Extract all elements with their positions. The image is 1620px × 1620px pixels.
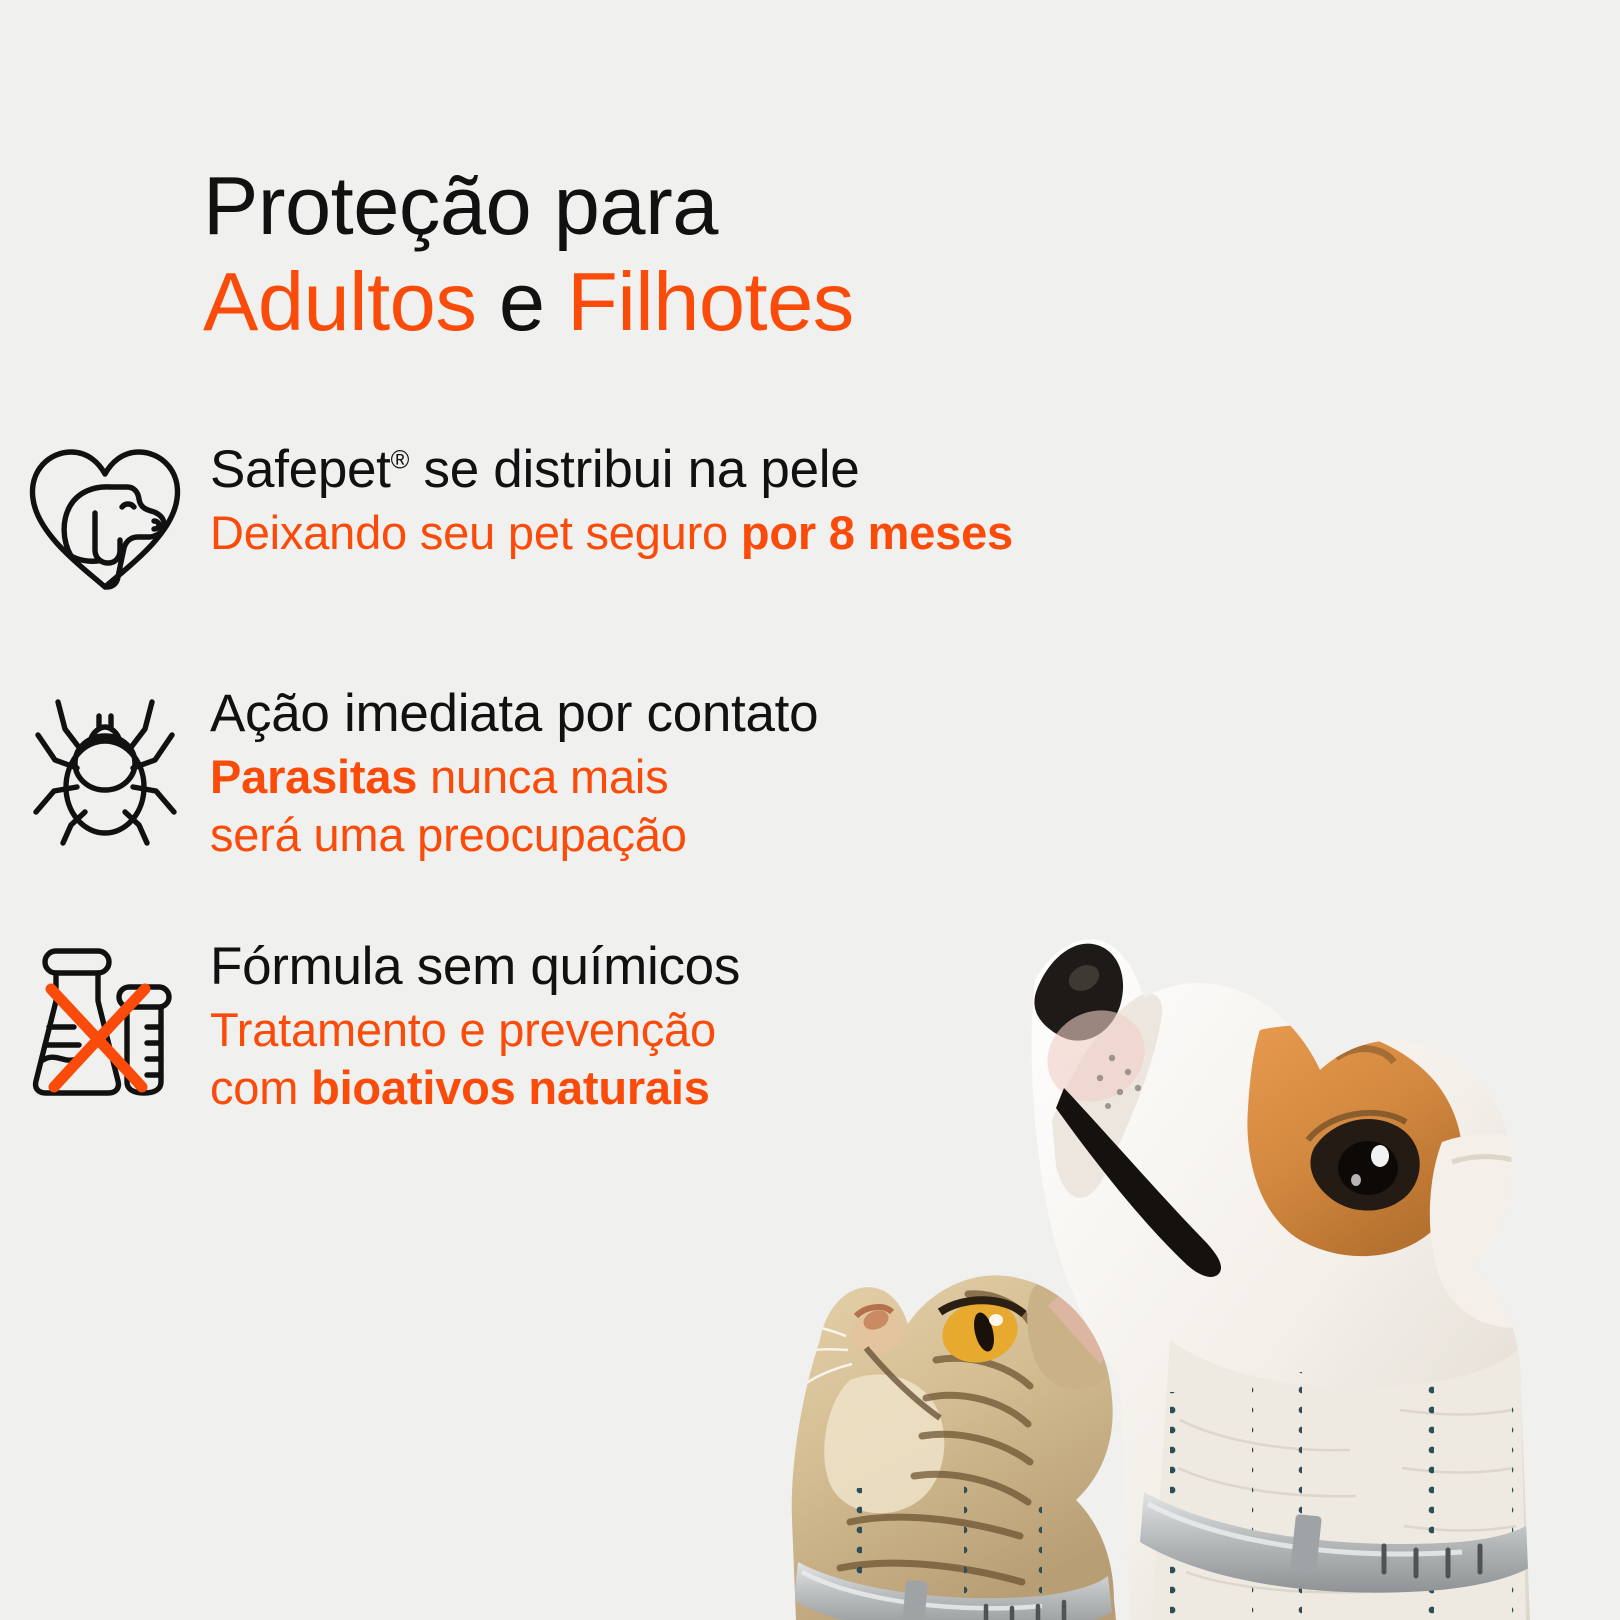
no-chemicals-flask-icon [0, 935, 210, 1099]
headline-accent-adultos: Adultos [203, 255, 476, 348]
subtitle-plain: com [210, 1061, 311, 1114]
cat-collar [794, 1562, 1112, 1620]
heart-dog-icon [0, 438, 210, 594]
feature-title: Fórmula sem químicos [210, 937, 1320, 997]
feature-text-block: Fórmula sem químicos Tratamento e preven… [210, 935, 1320, 1116]
feature-item-skin-distribution: Safepet® se distribui na pele Deixando s… [0, 438, 1320, 594]
feature-title-rest: se distribui na pele [409, 440, 859, 499]
headline-line-1: Proteção para [203, 158, 1303, 254]
feature-subtitle: Parasitas nunca mais será uma preocupaçã… [210, 748, 1320, 863]
feature-list: Safepet® se distribui na pele Deixando s… [0, 438, 1320, 1182]
feature-title: Safepet® se distribui na pele [210, 440, 1320, 500]
cat-photo [780, 1258, 1140, 1620]
feature-subtitle: Deixando seu pet seguro por 8 meses [210, 504, 1320, 561]
feature-subtitle-line: Deixando seu pet seguro por 8 meses [210, 504, 1320, 561]
headline-accent-filhotes: Filhotes [567, 255, 854, 348]
feature-subtitle-line: será uma preocupação [210, 806, 1320, 863]
subtitle-bold: Parasitas [210, 750, 417, 803]
dog-distribution-dots [1170, 1370, 1518, 1620]
feature-text-block: Safepet® se distribui na pele Deixando s… [210, 438, 1320, 562]
registered-trademark-icon: ® [391, 446, 409, 474]
page-title: Proteção para Adultos e Filhotes [203, 158, 1303, 351]
subtitle-bold: bioativos naturais [311, 1061, 710, 1114]
subtitle-plain: nunca mais [417, 750, 668, 803]
promo-canvas: Proteção para Adultos e Filhotes S [0, 0, 1620, 1620]
subtitle-bold: por 8 meses [741, 506, 1013, 559]
feature-item-no-chemicals: Fórmula sem químicos Tratamento e preven… [0, 935, 1320, 1116]
feature-subtitle-line: Tratamento e prevenção [210, 1001, 1320, 1058]
subtitle-plain: Deixando seu pet seguro [210, 506, 741, 559]
headline-conjunction: e [476, 255, 567, 348]
tick-parasite-icon [0, 682, 210, 846]
feature-subtitle-line: com bioativos naturais [210, 1059, 1320, 1116]
feature-item-immediate-action: Ação imediata por contato Parasitas nunc… [0, 682, 1320, 863]
dog-collar [1140, 1492, 1538, 1593]
cat-distribution-dots [822, 1472, 1078, 1620]
feature-text-block: Ação imediata por contato Parasitas nunc… [210, 682, 1320, 863]
feature-title: Ação imediata por contato [210, 684, 1320, 744]
feature-title-brand: Safepet [210, 440, 391, 499]
headline-line-2: Adultos e Filhotes [203, 254, 1303, 350]
headline-text-primary: Proteção para [203, 159, 718, 252]
feature-subtitle-line: Parasitas nunca mais [210, 748, 1320, 805]
feature-subtitle: Tratamento e prevenção com bioativos nat… [210, 1001, 1320, 1116]
